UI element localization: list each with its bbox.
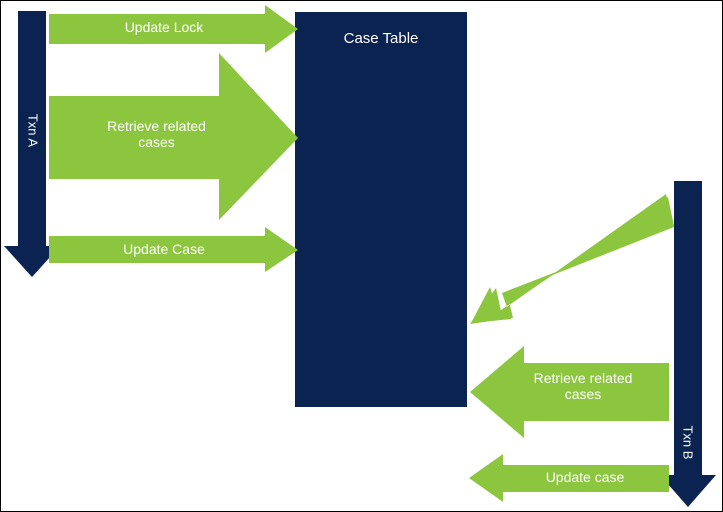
arrow-update-lock xyxy=(49,5,298,53)
diagram-shapes-layer xyxy=(1,1,723,512)
arrow-retrieve-related-cases-right xyxy=(470,346,669,438)
arrow-retrieve-related-cases-left xyxy=(49,53,298,220)
diagram-canvas: Case Table Txn A Txn B Update Lock Retri… xyxy=(0,0,723,512)
arrow-update-case-right xyxy=(469,454,669,502)
arrow-update-case-left xyxy=(49,227,298,272)
case-table-box xyxy=(295,12,467,407)
arrow-update-lock-right xyxy=(470,194,674,324)
txn-b-arrow xyxy=(660,181,716,507)
